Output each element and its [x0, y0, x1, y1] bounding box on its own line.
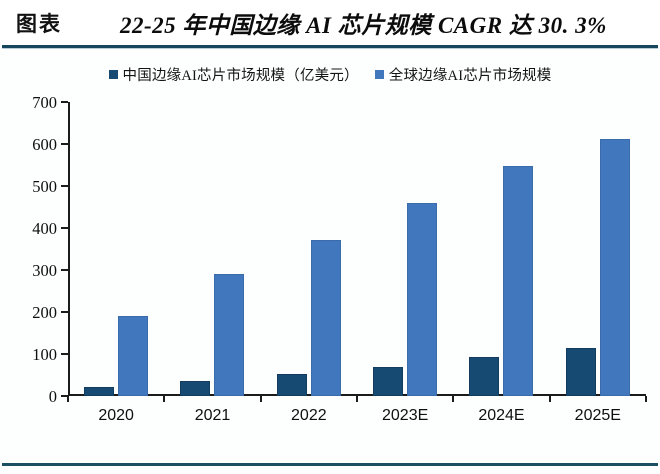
bar-2023E-series-1: [373, 367, 403, 396]
x-axis-tick: [645, 396, 647, 402]
y-axis-tick-label: 700: [32, 93, 57, 113]
legend-label: 中国边缘AI芯片市场规模（亿美元）: [123, 64, 359, 85]
header-divider-secondary: [2, 48, 658, 49]
x-axis-tick: [163, 396, 165, 402]
bar-group: 2021: [164, 102, 260, 396]
bar-2024E-series-1: [469, 357, 499, 396]
plot-area: 2020202120222023E2024E2025E 010020030040…: [68, 102, 646, 396]
bar-group: 2025E: [550, 102, 646, 396]
bar-2022-series-1: [277, 374, 307, 396]
y-axis-tick-label: 300: [32, 261, 57, 281]
y-axis-tick: [61, 269, 68, 271]
x-axis-tick-label: 2021: [195, 407, 231, 425]
bar-2025E-series-1: [566, 348, 596, 396]
bar-2020-series-1: [84, 387, 114, 396]
y-axis-tick-label: 400: [32, 219, 57, 239]
legend-item: 全球边缘AI芯片市场规模: [375, 64, 552, 85]
x-axis-tick-label: 2020: [98, 407, 134, 425]
y-axis-tick: [61, 353, 68, 355]
square-swatch-icon: [109, 70, 118, 79]
bar-2022-series-2: [311, 240, 341, 396]
y-axis-tick-label: 600: [32, 135, 57, 155]
figure-title: 22-25 年中国边缘 AI 芯片规模 CAGR 达 30. 3%: [120, 6, 607, 40]
x-axis-tick: [356, 396, 358, 402]
footer-divider: [2, 463, 658, 466]
bar-group: 2024E: [453, 102, 549, 396]
y-axis-tick-label: 0: [49, 387, 57, 407]
x-axis-tick: [67, 396, 69, 402]
bar-2021-series-2: [214, 274, 244, 396]
bar-2023E-series-2: [407, 203, 437, 396]
y-axis-tick: [61, 311, 68, 313]
bar-2020-series-2: [118, 316, 148, 396]
y-axis-tick: [61, 227, 68, 229]
y-axis-tick-label: 200: [32, 303, 57, 323]
x-axis-tick-label: 2022: [291, 407, 327, 425]
bar-groups: 2020202120222023E2024E2025E: [68, 102, 646, 396]
legend-label: 全球边缘AI芯片市场规模: [389, 64, 552, 85]
bar-group: 2022: [261, 102, 357, 396]
y-axis-tick: [61, 143, 68, 145]
chart-figure: 图表 22-25 年中国边缘 AI 芯片规模 CAGR 达 30. 3% 中国边…: [0, 0, 660, 474]
x-axis-tick: [452, 396, 454, 402]
y-axis-tick-label: 100: [32, 345, 57, 365]
bar-2021-series-1: [180, 381, 210, 396]
x-axis-tick: [260, 396, 262, 402]
bar-2024E-series-2: [503, 166, 533, 396]
bar-group: 2020: [68, 102, 164, 396]
x-axis-tick-label: 2025E: [575, 407, 621, 425]
bar-2025E-series-2: [600, 139, 630, 396]
x-axis-tick: [549, 396, 551, 402]
plot-wrapper: 2020202120222023E2024E2025E 010020030040…: [0, 92, 660, 452]
square-swatch-icon: [375, 70, 384, 79]
chart-legend: 中国边缘AI芯片市场规模（亿美元）全球边缘AI芯片市场规模: [0, 62, 660, 86]
figure-label: 图表: [0, 8, 62, 38]
y-axis-tick: [61, 185, 68, 187]
y-axis-tick: [61, 101, 68, 103]
x-axis-tick-label: 2023E: [382, 407, 428, 425]
x-axis-tick-label: 2024E: [478, 407, 524, 425]
figure-header: 图表 22-25 年中国边缘 AI 芯片规模 CAGR 达 30. 3%: [0, 0, 660, 46]
y-axis-tick-label: 500: [32, 177, 57, 197]
bar-group: 2023E: [357, 102, 453, 396]
legend-item: 中国边缘AI芯片市场规模（亿美元）: [109, 64, 359, 85]
